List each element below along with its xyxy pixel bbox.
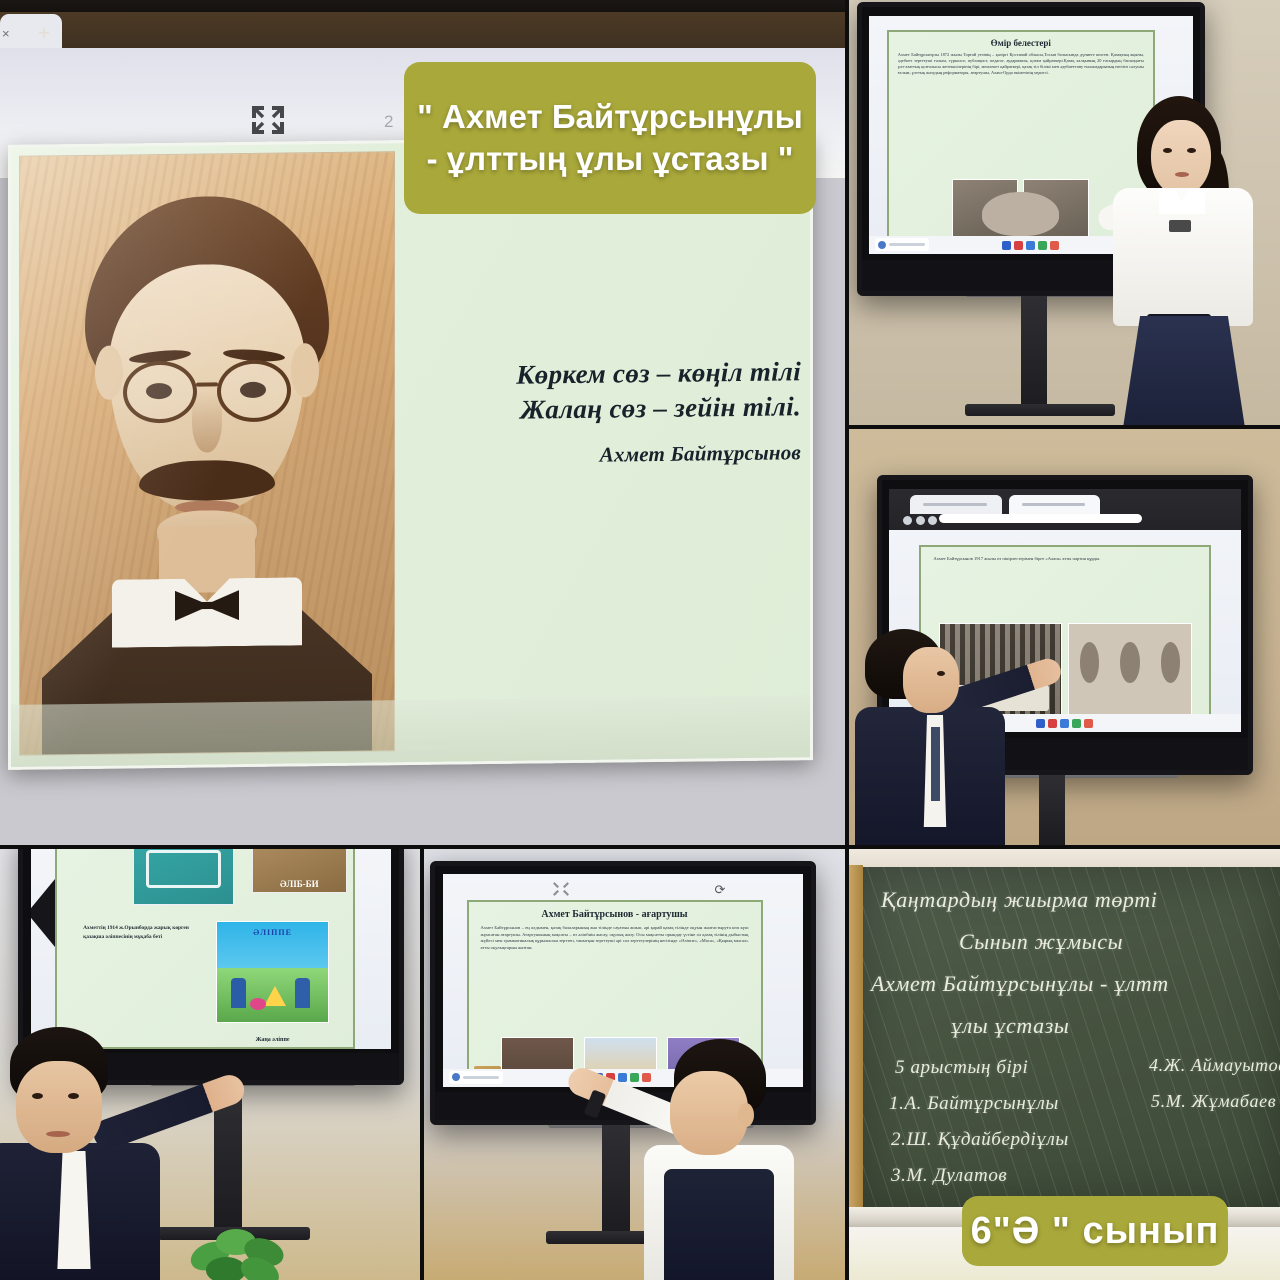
chalk-line-date: Қаңтардың жиырма төрті xyxy=(881,887,1157,913)
slide-title: Өмір белестері xyxy=(889,38,1153,48)
photo-three-leaders xyxy=(1068,623,1192,727)
refresh-icon[interactable] xyxy=(928,516,937,525)
alippe-title: ӘЛІППЕ xyxy=(217,928,327,937)
photo-collage: × + 2 xyxy=(0,0,1280,1280)
title-badge: " Ахмет Байтұрсынұлы - ұлттың ұлы ұстазы… xyxy=(404,62,816,214)
red-app-icon[interactable] xyxy=(1084,719,1093,728)
chalk-line-heading: 5 арыстың бірі xyxy=(895,1057,1028,1079)
slide-body: Ахмет Байтұрсынов 1917 жылы өз пікірлест… xyxy=(921,547,1209,566)
book-label: ӘЛІБ-БИ xyxy=(280,879,319,889)
chalk-list-item-4: 4.Ж. Аймауытов xyxy=(1149,1055,1280,1076)
book-alib-bi: ӘЛІБ-БИ xyxy=(252,849,347,893)
panel-boy-alash: Ахмет Байтұрсынов 1917 жылы өз пікірлест… xyxy=(849,429,1280,845)
chalk-list-item-1: 1.А. Байтұрсынұлы xyxy=(889,1093,1059,1115)
slide-title: Ахмет Байтұрсынов - ағартушы xyxy=(469,909,761,920)
chalkboard: Қаңтардың жиырма төрті Сынып жұмысы Ахме… xyxy=(859,867,1280,1207)
smartboard-screen[interactable]: ӘЛІБ-БИ Ахметтің 1914 ж.Орынборда жарық … xyxy=(31,849,392,1049)
panel-boy-alippe: ӘЛІБ-БИ Ахметтің 1914 ж.Орынборда жарық … xyxy=(0,849,420,1280)
browser-chrome xyxy=(889,489,1240,530)
red-app-icon[interactable] xyxy=(1050,241,1059,250)
board-stand-base xyxy=(965,404,1115,416)
close-icon[interactable]: × xyxy=(2,26,10,41)
pointing-arm xyxy=(90,1071,249,1153)
chalkboard-frame xyxy=(849,865,863,1209)
page-number: 2 xyxy=(384,112,393,132)
red-app-icon[interactable] xyxy=(1014,241,1023,250)
chalk-line-topic-2: ұлы ұстазы xyxy=(951,1013,1069,1039)
refresh-icon[interactable]: ⟳ xyxy=(715,882,726,898)
browser-tab[interactable] xyxy=(910,495,1001,514)
address-bar[interactable] xyxy=(939,514,1143,522)
blue-app-icon[interactable] xyxy=(1026,241,1035,250)
slide-caption: Ахметтің 1914 ж.Орынборда жарық көрген қ… xyxy=(83,924,207,940)
slide-alippe: ӘЛІБ-БИ Ахметтің 1914 ж.Орынборда жарық … xyxy=(55,849,355,1049)
fullscreen-expand-icon[interactable] xyxy=(551,880,571,898)
photo-alippe-cover-1914 xyxy=(133,849,234,905)
fullscreen-expand-icon[interactable] xyxy=(250,104,286,136)
class-badge: 6"Ә " сынып xyxy=(962,1196,1228,1266)
chalk-line-topic-1: Ахмет Байтұрсынұлы - ұлтт xyxy=(871,971,1169,997)
chalk-list-item-5: 5.М. Жұмабаев xyxy=(1151,1091,1276,1112)
user-account-icon[interactable] xyxy=(449,1071,503,1084)
chalk-list-item-3: 3.М. Дулатов xyxy=(891,1165,1007,1187)
green-app-icon[interactable] xyxy=(1038,241,1047,250)
screen-glare xyxy=(11,138,810,767)
chalk-line-classwork: Сынып жұмысы xyxy=(959,929,1123,955)
chalk-list-item-2: 2.Ш. Құдайбердіұлы xyxy=(891,1129,1069,1151)
left-arrow-icon[interactable] xyxy=(31,879,55,947)
browser-tab[interactable] xyxy=(1009,495,1100,514)
potted-plant xyxy=(188,1225,296,1280)
shirt-logo xyxy=(1169,220,1191,232)
green-app-icon[interactable] xyxy=(1072,719,1081,728)
presentation-slide: Көркем сөз – көңіл тілі Жалаң сөз – зейі… xyxy=(8,135,813,770)
pointing-arm xyxy=(944,655,1064,716)
panel-boy-agartushy: ⟳ Ахмет Байтұрсынов - ағартушы Ахмет Бай… xyxy=(424,849,845,1280)
photo-new-alippe: ӘЛІППЕ xyxy=(216,921,328,1024)
blue-app-icon[interactable] xyxy=(1002,241,1011,250)
browser-tab-bar xyxy=(0,12,845,52)
student-girl xyxy=(1107,96,1259,425)
student-boy-pointing xyxy=(606,1019,840,1280)
board-stand-column xyxy=(1021,296,1047,414)
back-icon[interactable] xyxy=(903,516,912,525)
forward-icon[interactable] xyxy=(916,516,925,525)
student-boy-pointing xyxy=(859,619,1069,845)
slide-body: Ахмет Байтұрсынұлы 1872 жылы Торғай уезі… xyxy=(889,52,1153,77)
necktie xyxy=(931,727,940,801)
panel-girl-presenting: Өмір белестері Ахмет Байтұрсынұлы 1872 ж… xyxy=(849,0,1280,425)
slide-body: Ахмет Байтұрсынов – ең алдымен, қазақ ба… xyxy=(469,925,761,953)
user-account-icon[interactable] xyxy=(875,238,929,251)
new-tab-icon[interactable]: + xyxy=(38,22,50,46)
